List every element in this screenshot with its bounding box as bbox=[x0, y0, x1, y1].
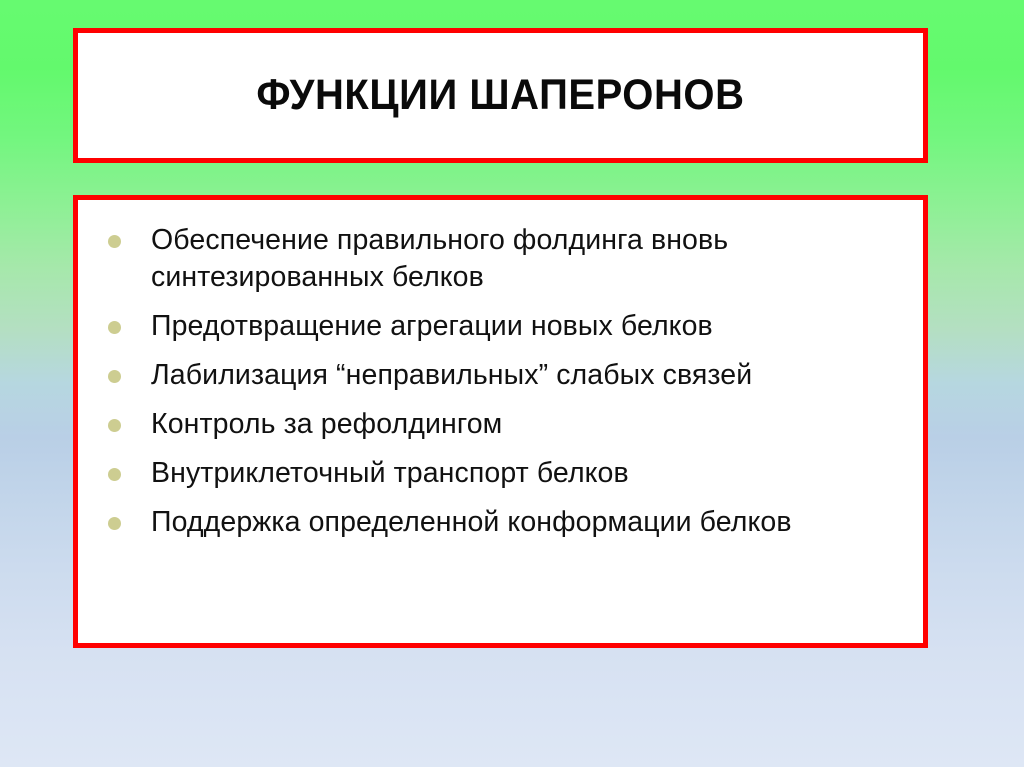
bullet-dot-icon bbox=[108, 235, 121, 248]
slide-canvas: ФУНКЦИИ ШАПЕРОНОВ Обеспечение правильног… bbox=[0, 0, 1024, 767]
title-panel: ФУНКЦИИ ШАПЕРОНОВ bbox=[73, 28, 928, 163]
functions-bullet-list: Обеспечение правильного фолдинга вновь с… bbox=[78, 200, 923, 541]
list-item-label: Поддержка определенной конформации белко… bbox=[151, 504, 905, 541]
bullet-dot-icon bbox=[108, 370, 121, 383]
bullet-dot-icon bbox=[108, 517, 121, 530]
list-item: Внутриклеточный транспорт белков bbox=[96, 455, 905, 492]
list-item: Поддержка определенной конформации белко… bbox=[96, 504, 905, 541]
list-item-label: Обеспечение правильного фолдинга вновь с… bbox=[151, 222, 905, 296]
bullet-dot-icon bbox=[108, 468, 121, 481]
list-item: Обеспечение правильного фолдинга вновь с… bbox=[96, 222, 905, 296]
bullet-dot-icon bbox=[108, 419, 121, 432]
content-panel: Обеспечение правильного фолдинга вновь с… bbox=[73, 195, 928, 648]
list-item-label: Внутриклеточный транспорт белков bbox=[151, 455, 905, 492]
bullet-dot-icon bbox=[108, 321, 121, 334]
page-title: ФУНКЦИИ ШАПЕРОНОВ bbox=[256, 73, 744, 118]
list-item-label: Контроль за рефолдингом bbox=[151, 406, 905, 443]
list-item: Контроль за рефолдингом bbox=[96, 406, 905, 443]
list-item: Лабилизация “неправильных” слабых связей bbox=[96, 357, 905, 394]
list-item-label: Лабилизация “неправильных” слабых связей bbox=[151, 357, 905, 394]
list-item-label: Предотвращение агрегации новых белков bbox=[151, 308, 905, 345]
list-item: Предотвращение агрегации новых белков bbox=[96, 308, 905, 345]
